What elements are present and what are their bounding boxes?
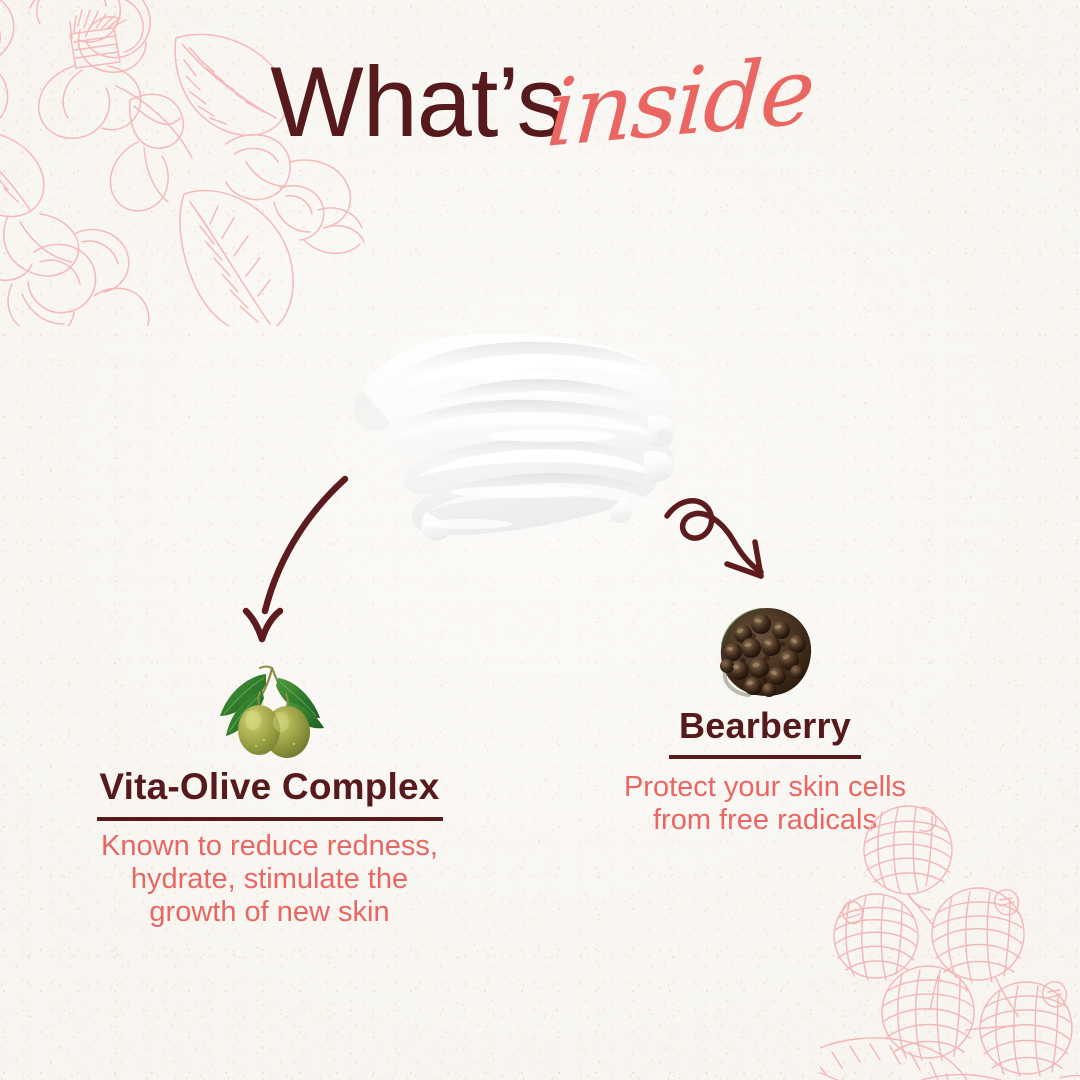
bearberry-icon-wrapper xyxy=(615,600,915,702)
ingredient-description-bearberry: Protect your skin cells from free radica… xyxy=(615,771,915,837)
ingredient-title-bearberry: Bearberry xyxy=(615,707,915,745)
ingredient-card-bearberry: Bearberry Protect your skin cells from f… xyxy=(615,600,915,837)
olive-fruit-icon xyxy=(210,660,330,765)
ingredient-card-olive: Vita-Olive Complex Known to reduce redne… xyxy=(57,660,482,929)
page-title: What’sinside xyxy=(0,52,1080,151)
poster-canvas: What’sinside xyxy=(0,0,1080,1080)
title-static-text: What’s xyxy=(270,46,565,157)
title-script-text: inside xyxy=(544,45,816,161)
ingredient-divider-olive xyxy=(97,817,443,821)
bearberry-fruit-icon xyxy=(709,600,821,702)
olive-icon-wrapper xyxy=(57,660,482,765)
arrow-to-bearberry-icon xyxy=(655,480,815,605)
arrow-to-olive-icon xyxy=(210,455,390,665)
ingredient-divider-bearberry xyxy=(669,755,861,759)
ingredient-description-olive: Known to reduce redness, hydrate, stimul… xyxy=(90,830,450,929)
ingredient-title-olive: Vita-Olive Complex xyxy=(57,768,482,807)
